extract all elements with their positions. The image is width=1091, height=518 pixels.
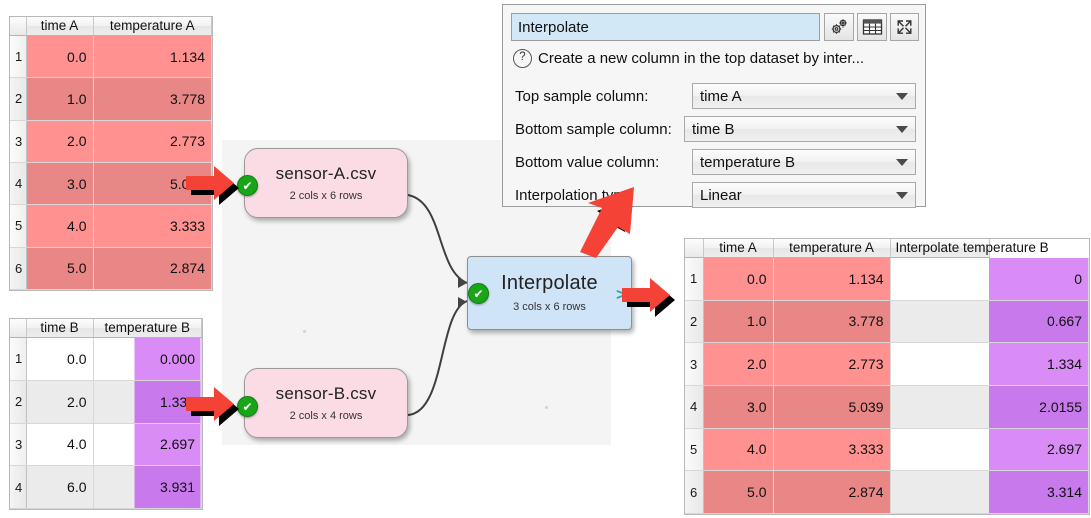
table-cell[interactable]: 2.773 xyxy=(93,120,212,162)
row-number[interactable]: 6 xyxy=(10,247,26,289)
chevron-down-icon xyxy=(896,192,908,199)
grid-glyph xyxy=(862,18,883,36)
dialog-title-row: Interpolate xyxy=(511,13,919,41)
row-number[interactable]: 2 xyxy=(10,78,26,120)
table-row[interactable]: 34.02.697 xyxy=(10,423,202,466)
node-subtitle: 2 cols x 6 rows xyxy=(290,191,363,202)
table-cell[interactable] xyxy=(890,343,989,386)
field-row-top-sample-column: Top sample column: xyxy=(515,83,648,109)
table-cell[interactable]: 4.0 xyxy=(26,205,93,247)
table-cell[interactable]: 2.697 xyxy=(989,428,1088,471)
table-cell[interactable]: 1.0 xyxy=(26,78,93,120)
arrow-to-interpolate xyxy=(578,186,702,258)
table-cell[interactable]: 6.0 xyxy=(26,466,93,509)
select-value: time B xyxy=(692,121,735,138)
table-cell[interactable]: 0 xyxy=(989,258,1088,301)
row-number[interactable]: 3 xyxy=(685,343,703,386)
node-input-port-bottom[interactable] xyxy=(458,297,467,307)
interpolate-properties-panel[interactable]: Interpolate xyxy=(502,4,926,207)
dataset-b-table[interactable]: time B temperature B 10.00.00022.01.3343… xyxy=(9,318,203,510)
select-value: Linear xyxy=(700,187,742,204)
table-row[interactable]: 43.05.039 xyxy=(10,162,212,204)
chevron-down-icon xyxy=(896,126,908,133)
arrow-to-result-table xyxy=(622,276,694,324)
row-header-corner xyxy=(10,319,26,338)
row-number[interactable]: 3 xyxy=(10,120,26,162)
column-header-temperature-b[interactable]: temperature B xyxy=(93,319,202,338)
select-value: temperature B xyxy=(700,154,795,171)
table-cell[interactable]: 0.667 xyxy=(989,300,1088,343)
node-title: sensor-B.csv xyxy=(276,385,377,402)
row-number[interactable]: 4 xyxy=(685,385,703,428)
table-cell[interactable]: 1.334 xyxy=(989,343,1088,386)
bottom-sample-column-select[interactable]: time B xyxy=(684,116,916,142)
node-title: Interpolate xyxy=(501,273,598,293)
table-cell[interactable]: 5.0 xyxy=(703,471,773,514)
select-value: time A xyxy=(700,88,742,105)
row-number[interactable]: 5 xyxy=(685,428,703,471)
table-cell[interactable]: 5.039 xyxy=(773,385,890,428)
gear-glyph xyxy=(829,18,849,37)
top-sample-column-select[interactable]: time A xyxy=(692,83,916,109)
column-header-time-b[interactable]: time B xyxy=(26,319,93,338)
expand-icon[interactable] xyxy=(890,13,919,41)
arrow-to-sensor-b xyxy=(186,385,258,433)
row-number[interactable]: 1 xyxy=(10,338,26,381)
table-row[interactable]: 65.02.8743.314 xyxy=(685,471,1089,514)
chevron-down-icon xyxy=(896,93,908,100)
table-cell[interactable] xyxy=(890,471,989,514)
interpolation-type-select[interactable]: Linear xyxy=(692,182,916,208)
expand-arrows-glyph xyxy=(895,18,914,36)
table-cell[interactable] xyxy=(890,385,989,428)
table-cell[interactable]: 2.0 xyxy=(26,380,93,423)
column-header-interpolate-temperature-b[interactable]: Interpolate temperature B xyxy=(890,239,989,258)
column-header-temperature-a[interactable]: temperature A xyxy=(773,239,890,258)
table-cell[interactable]: 3.931 xyxy=(93,466,202,509)
table-row[interactable]: 46.03.931 xyxy=(10,466,202,509)
table-cell[interactable]: 2.874 xyxy=(93,247,212,289)
table-row[interactable]: 65.02.874 xyxy=(10,247,212,289)
table-cell[interactable] xyxy=(890,300,989,343)
node-sensor-b[interactable]: sensor-B.csv 2 cols x 4 rows xyxy=(244,368,408,438)
table-row[interactable]: 32.02.773 xyxy=(10,120,212,162)
table-row[interactable]: 21.03.7780.667 xyxy=(685,300,1089,343)
table-row[interactable]: 54.03.3332.697 xyxy=(685,428,1089,471)
node-subtitle: 2 cols x 4 rows xyxy=(290,411,363,422)
arrow-to-sensor-a xyxy=(186,164,258,212)
table-row[interactable]: 10.01.1340 xyxy=(685,258,1089,301)
node-subtitle: 3 cols x 6 rows xyxy=(513,302,586,313)
table-cell[interactable]: 3.0 xyxy=(703,385,773,428)
row-number[interactable]: 4 xyxy=(10,162,26,204)
node-status-ok-icon: ✔ xyxy=(468,283,489,304)
table-row[interactable]: 22.01.334 xyxy=(10,380,202,423)
dialog-description-row: ? Create a new column in the top dataset… xyxy=(513,47,918,69)
column-header-temperature-a[interactable]: temperature A xyxy=(93,17,212,36)
dialog-title-input[interactable]: Interpolate xyxy=(511,13,820,41)
field-label: Bottom sample column: xyxy=(515,121,672,138)
row-number[interactable]: 1 xyxy=(10,36,26,78)
column-header-time-a[interactable]: time A xyxy=(26,17,93,36)
field-label: Top sample column: xyxy=(515,88,648,105)
table-cell[interactable]: 3.0 xyxy=(26,162,93,204)
table-row[interactable]: 54.03.333 xyxy=(10,205,212,247)
row-number[interactable]: 6 xyxy=(685,471,703,514)
table-cell[interactable]: 2.874 xyxy=(773,471,890,514)
node-title: sensor-A.csv xyxy=(276,165,377,182)
table-cell[interactable]: 3.778 xyxy=(773,300,890,343)
table-cell[interactable]: 3.778 xyxy=(93,78,212,120)
table-row[interactable]: 32.02.7731.334 xyxy=(685,343,1089,386)
table-row[interactable]: 10.01.134 xyxy=(10,36,212,78)
node-interpolate[interactable]: Interpolate 3 cols x 6 rows xyxy=(467,256,632,330)
table-cell[interactable]: 3.333 xyxy=(773,428,890,471)
table-row[interactable]: 43.05.0392.0155 xyxy=(685,385,1089,428)
table-cell[interactable]: 1.134 xyxy=(93,36,212,78)
table-grid-icon[interactable] xyxy=(857,13,887,41)
row-number[interactable]: 2 xyxy=(10,380,26,423)
column-header-time-a[interactable]: time A xyxy=(703,239,773,258)
table-cell[interactable]: 2.773 xyxy=(773,343,890,386)
node-input-port-top[interactable] xyxy=(458,278,467,288)
table-cell[interactable]: 0.000 xyxy=(93,338,202,381)
table-cell[interactable] xyxy=(890,258,989,301)
field-label: Bottom value column: xyxy=(515,154,659,171)
settings-gears-icon[interactable] xyxy=(824,13,854,41)
table-cell[interactable]: 0.0 xyxy=(26,338,93,381)
chevron-down-icon xyxy=(896,159,908,166)
table-cell[interactable]: 3.314 xyxy=(989,471,1088,514)
row-number[interactable]: 5 xyxy=(10,205,26,247)
table-cell[interactable]: 5.0 xyxy=(26,247,93,289)
table-cell[interactable]: 4.0 xyxy=(26,423,93,466)
table-cell[interactable]: 2.0 xyxy=(26,120,93,162)
table-cell[interactable]: 0.0 xyxy=(26,36,93,78)
table-row[interactable]: 10.00.000 xyxy=(10,338,202,381)
table-cell[interactable]: 1.0 xyxy=(703,300,773,343)
dataset-a-table[interactable]: time A temperature A 10.01.13421.03.7783… xyxy=(9,16,213,291)
table-cell[interactable]: 2.0155 xyxy=(989,385,1088,428)
row-header-corner xyxy=(10,17,26,36)
row-number[interactable]: 4 xyxy=(10,466,26,509)
dialog-description-text: Create a new column in the top dataset b… xyxy=(538,50,864,67)
field-row-bottom-value-column: Bottom value column: xyxy=(515,149,659,175)
interpolate-result-table[interactable]: time A temperature A Interpolate tempera… xyxy=(684,238,1090,515)
bottom-value-column-select[interactable]: temperature B xyxy=(692,149,916,175)
table-row[interactable]: 21.03.778 xyxy=(10,78,212,120)
row-number[interactable]: 3 xyxy=(10,423,26,466)
help-icon[interactable]: ? xyxy=(513,49,532,68)
table-cell[interactable] xyxy=(890,428,989,471)
table-cell[interactable]: 0.0 xyxy=(703,258,773,301)
field-row-bottom-sample-column: Bottom sample column: xyxy=(515,116,672,142)
table-cell[interactable]: 2.0 xyxy=(703,343,773,386)
table-cell[interactable]: 4.0 xyxy=(703,428,773,471)
table-cell[interactable]: 1.134 xyxy=(773,258,890,301)
node-sensor-a[interactable]: sensor-A.csv 2 cols x 6 rows xyxy=(244,148,408,218)
